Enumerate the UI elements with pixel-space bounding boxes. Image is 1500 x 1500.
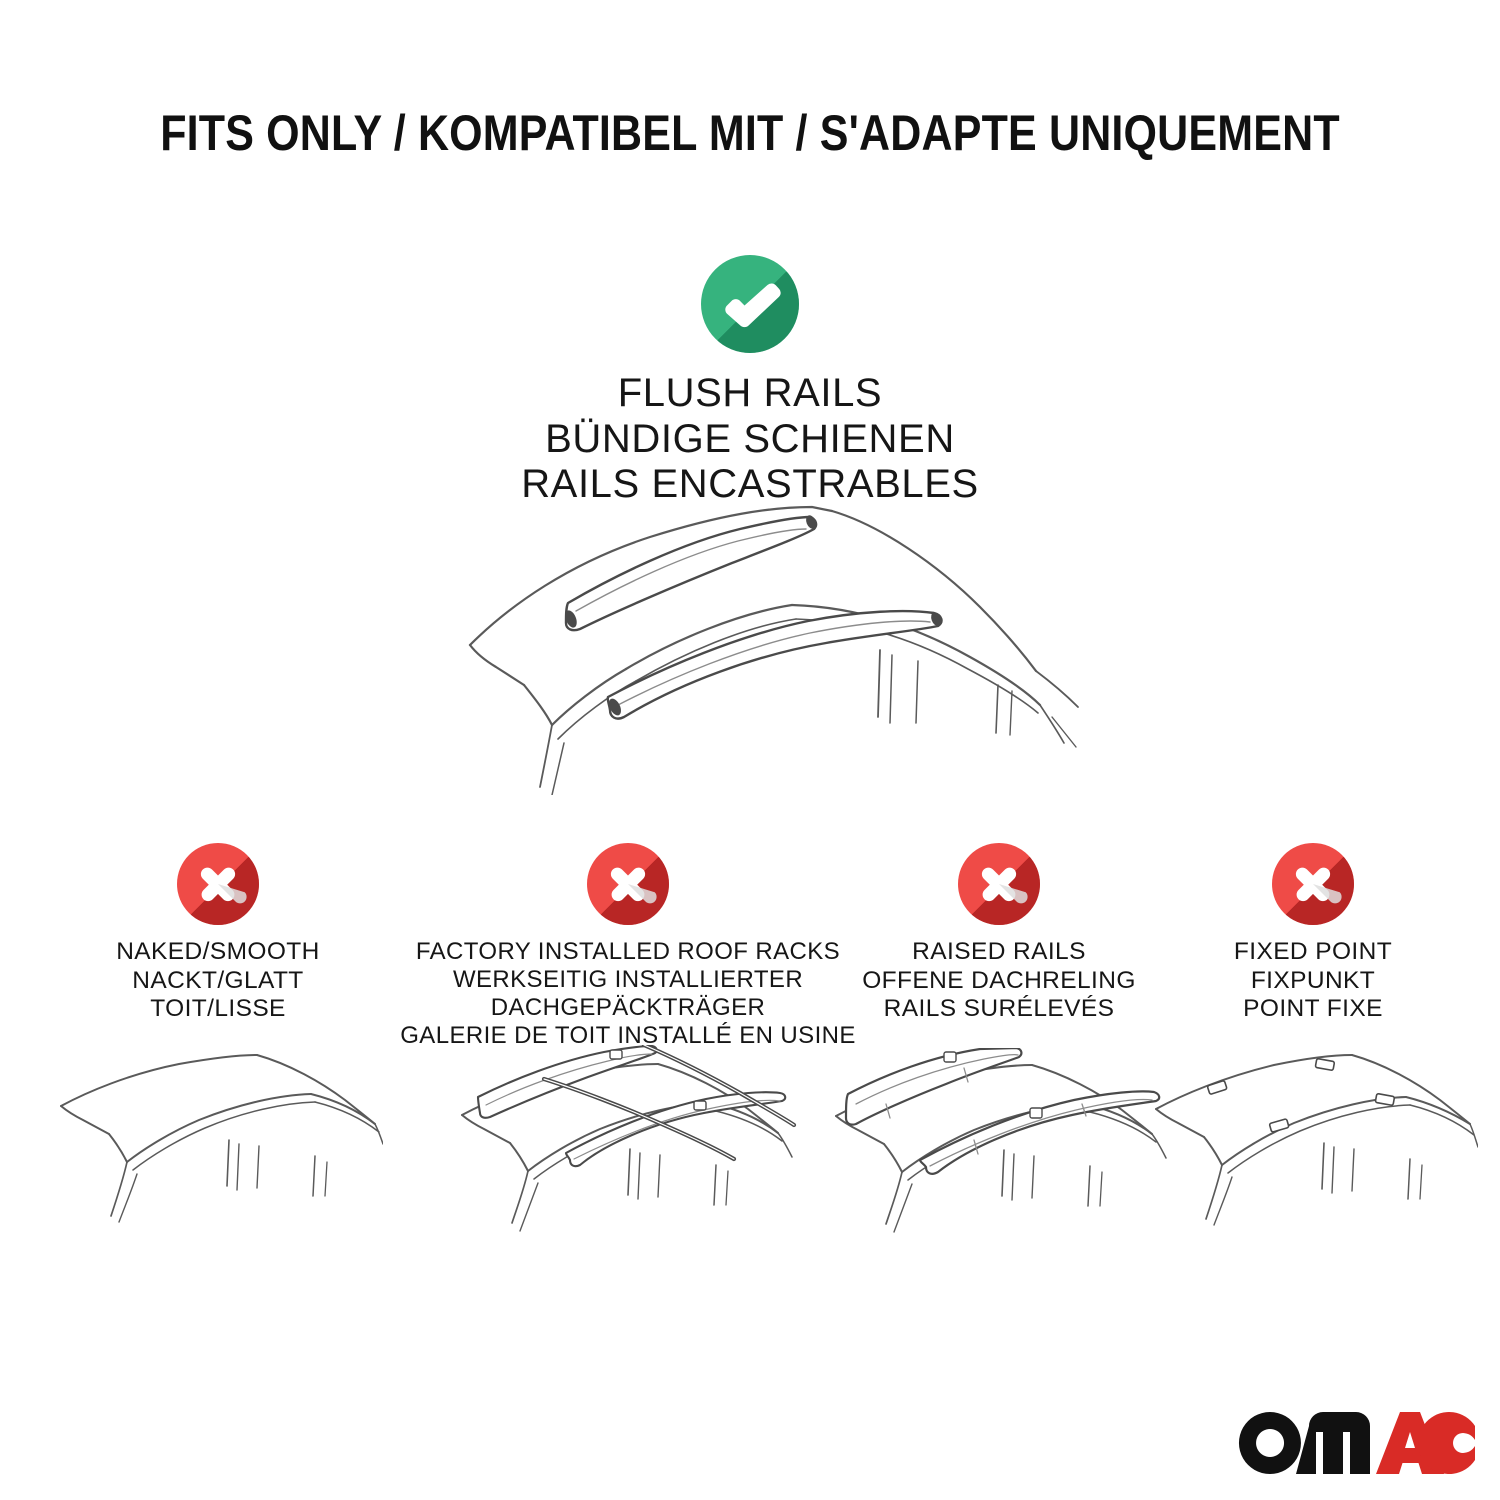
item-labels: RAISED RAILS OFFENE DACHRELING RAILS SUR… bbox=[838, 938, 1160, 1024]
item-label-en: RAISED RAILS bbox=[838, 938, 1160, 967]
fixed-point-cover bbox=[1315, 1058, 1334, 1070]
incompatible-item-fixed-point: FIXED POINT FIXPUNKT POINT FIXE bbox=[1163, 843, 1463, 1024]
check-mark-glyph bbox=[701, 255, 799, 353]
incompatible-item-raised-rails: RAISED RAILS OFFENE DACHRELING RAILS SUR… bbox=[838, 843, 1160, 1024]
roof-factory-racks-drawing bbox=[448, 1045, 808, 1265]
item-label-en: FACTORY INSTALLED ROOF RACKS bbox=[398, 938, 858, 966]
roof-flush-rails-drawing bbox=[440, 495, 1080, 795]
car-roof-naked-smooth-illustration bbox=[53, 1048, 383, 1258]
item-label-fr: TOIT/LISSE bbox=[68, 995, 368, 1024]
compatible-section: FLUSH RAILS BÜNDIGE SCHIENEN RAILS ENCAS… bbox=[250, 255, 1250, 508]
car-roof-with-flush-rails-illustration bbox=[440, 495, 1080, 795]
item-label-de: FIXPUNKT bbox=[1163, 967, 1463, 996]
x-mark-glyph bbox=[587, 843, 669, 925]
roof-fixed-point-drawing bbox=[1148, 1051, 1478, 1261]
compatible-label-en: FLUSH RAILS bbox=[250, 371, 1250, 417]
roof-naked-drawing bbox=[53, 1048, 383, 1258]
item-label-en: NAKED/SMOOTH bbox=[68, 938, 368, 967]
x-circle-icon bbox=[958, 843, 1040, 925]
omac-logo-mark bbox=[1237, 1412, 1475, 1474]
item-label-de: NACKT/GLATT bbox=[68, 967, 368, 996]
item-label-en: FIXED POINT bbox=[1163, 938, 1463, 967]
item-labels: NAKED/SMOOTH NACKT/GLATT TOIT/LISSE bbox=[68, 938, 368, 1024]
omac-logo bbox=[1237, 1412, 1475, 1474]
item-label-de-1: WERKSEITIG INSTALLIERTER bbox=[398, 966, 858, 994]
compatible-label-de: BÜNDIGE SCHIENEN bbox=[250, 417, 1250, 463]
incompatible-item-naked-smooth: NAKED/SMOOTH NACKT/GLATT TOIT/LISSE bbox=[68, 843, 368, 1024]
x-circle-icon bbox=[1272, 843, 1354, 925]
fixed-point-cover bbox=[1269, 1119, 1289, 1133]
car-roof-raised-rails-illustration bbox=[824, 1048, 1174, 1263]
item-label-fr: RAILS SURÉLEVÉS bbox=[838, 995, 1160, 1024]
x-mark-glyph bbox=[1272, 843, 1354, 925]
x-mark-glyph bbox=[958, 843, 1040, 925]
incompatible-item-factory-roof-racks: FACTORY INSTALLED ROOF RACKS WERKSEITIG … bbox=[398, 843, 858, 1050]
item-label-fr: POINT FIXE bbox=[1163, 995, 1463, 1024]
infographic-page: FITS ONLY / KOMPATIBEL MIT / S'ADAPTE UN… bbox=[0, 0, 1500, 1500]
x-circle-icon bbox=[587, 843, 669, 925]
car-roof-factory-roof-racks-illustration bbox=[448, 1045, 808, 1265]
incompatible-section: NAKED/SMOOTH NACKT/GLATT TOIT/LISSE bbox=[0, 843, 1500, 1343]
fixed-point-cover bbox=[1207, 1080, 1227, 1094]
compatible-labels: FLUSH RAILS BÜNDIGE SCHIENEN RAILS ENCAS… bbox=[250, 371, 1250, 508]
x-mark-glyph bbox=[177, 843, 259, 925]
roof-raised-rails-drawing bbox=[824, 1048, 1174, 1263]
x-circle-icon bbox=[177, 843, 259, 925]
fixed-point-cover bbox=[1375, 1093, 1394, 1105]
item-label-de: OFFENE DACHRELING bbox=[838, 967, 1160, 996]
page-title: FITS ONLY / KOMPATIBEL MIT / S'ADAPTE UN… bbox=[105, 104, 1395, 162]
item-labels: FIXED POINT FIXPUNKT POINT FIXE bbox=[1163, 938, 1463, 1024]
check-circle-icon bbox=[701, 255, 799, 353]
item-label-de-2: DACHGEPÄCKTRÄGER bbox=[398, 994, 858, 1022]
car-roof-fixed-point-illustration bbox=[1148, 1051, 1478, 1261]
item-labels: FACTORY INSTALLED ROOF RACKS WERKSEITIG … bbox=[398, 938, 858, 1050]
